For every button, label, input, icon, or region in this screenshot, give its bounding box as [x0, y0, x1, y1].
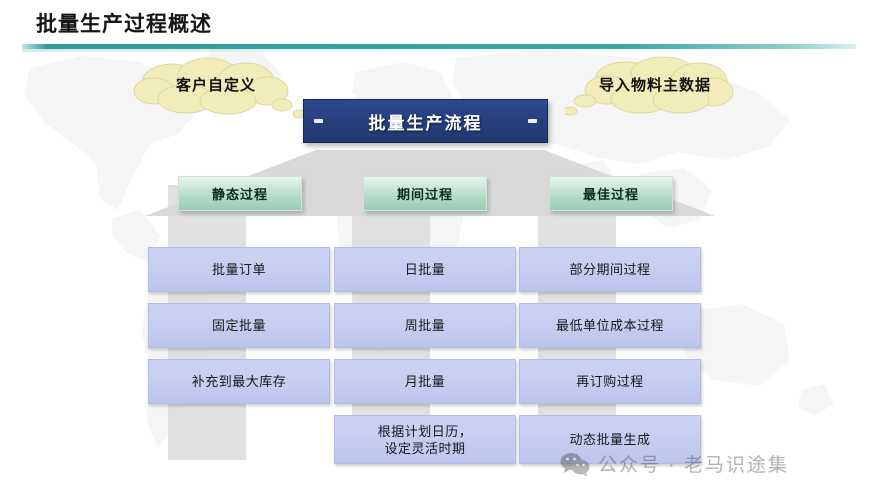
item-label: 部分期间过程: [569, 261, 650, 278]
stage-header-optimal-process: 最佳过程: [549, 176, 673, 211]
list-item: 月批量: [334, 359, 516, 404]
item-label: 补充到最大库存: [192, 373, 287, 390]
list-item: 动态批量生成: [519, 415, 701, 464]
stage-label-2: 期间过程: [397, 184, 453, 203]
stage-label-3: 最佳过程: [583, 184, 639, 203]
list-item: 根据计划日历， 设定灵活时期: [334, 415, 516, 464]
list-item: 补充到最大库存: [148, 359, 330, 404]
banner-notch-left-icon: [314, 119, 323, 123]
cloud-left-label: 客户自定义: [128, 53, 304, 115]
list-item: 再订购过程: [519, 359, 701, 404]
title-underline-shadow: [22, 49, 856, 52]
page-title: 批量生产过程概述: [36, 8, 212, 38]
item-label-line2: 设定灵活时期: [384, 441, 465, 456]
item-label: 根据计划日历， 设定灵活时期: [378, 423, 473, 457]
column-period-process: 日批量 周批量 月批量 根据计划日历， 设定灵活时期: [334, 247, 516, 475]
item-label: 月批量: [405, 373, 446, 390]
item-label: 固定批量: [212, 317, 266, 334]
item-label: 再订购过程: [576, 373, 644, 390]
list-item: 部分期间过程: [519, 247, 701, 292]
main-process-banner-label: 批量生产流程: [369, 109, 483, 134]
item-label: 最低单位成本过程: [556, 317, 664, 334]
item-label: 日批量: [405, 261, 446, 278]
banner-notch-right-icon: [528, 119, 537, 123]
list-item: 固定批量: [148, 303, 330, 348]
list-item: 日批量: [334, 247, 516, 292]
column-optimal-process: 部分期间过程 最低单位成本过程 再订购过程 动态批量生成: [519, 247, 701, 475]
thought-cloud-customer-defined: 客户自定义: [128, 57, 304, 119]
thought-cloud-import-material: 导入物料主数据: [565, 56, 737, 118]
item-label: 批量订单: [212, 261, 266, 278]
list-item: 批量订单: [148, 247, 330, 292]
main-process-banner: 批量生产流程: [303, 99, 548, 143]
cloud-right-label: 导入物料主数据: [569, 53, 741, 115]
stage-label-1: 静态过程: [212, 184, 268, 203]
stage-header-static-process: 静态过程: [178, 176, 302, 211]
item-label: 周批量: [405, 317, 446, 334]
list-item: 最低单位成本过程: [519, 303, 701, 348]
item-label: 动态批量生成: [569, 431, 650, 448]
list-item: 周批量: [334, 303, 516, 348]
column-static-process: 批量订单 固定批量 补充到最大库存: [148, 247, 330, 415]
slide-canvas: 批量生产过程概述 客户自定义: [0, 0, 872, 491]
stage-header-period-process: 期间过程: [363, 176, 487, 211]
item-label-line1: 根据计划日历，: [378, 424, 473, 439]
